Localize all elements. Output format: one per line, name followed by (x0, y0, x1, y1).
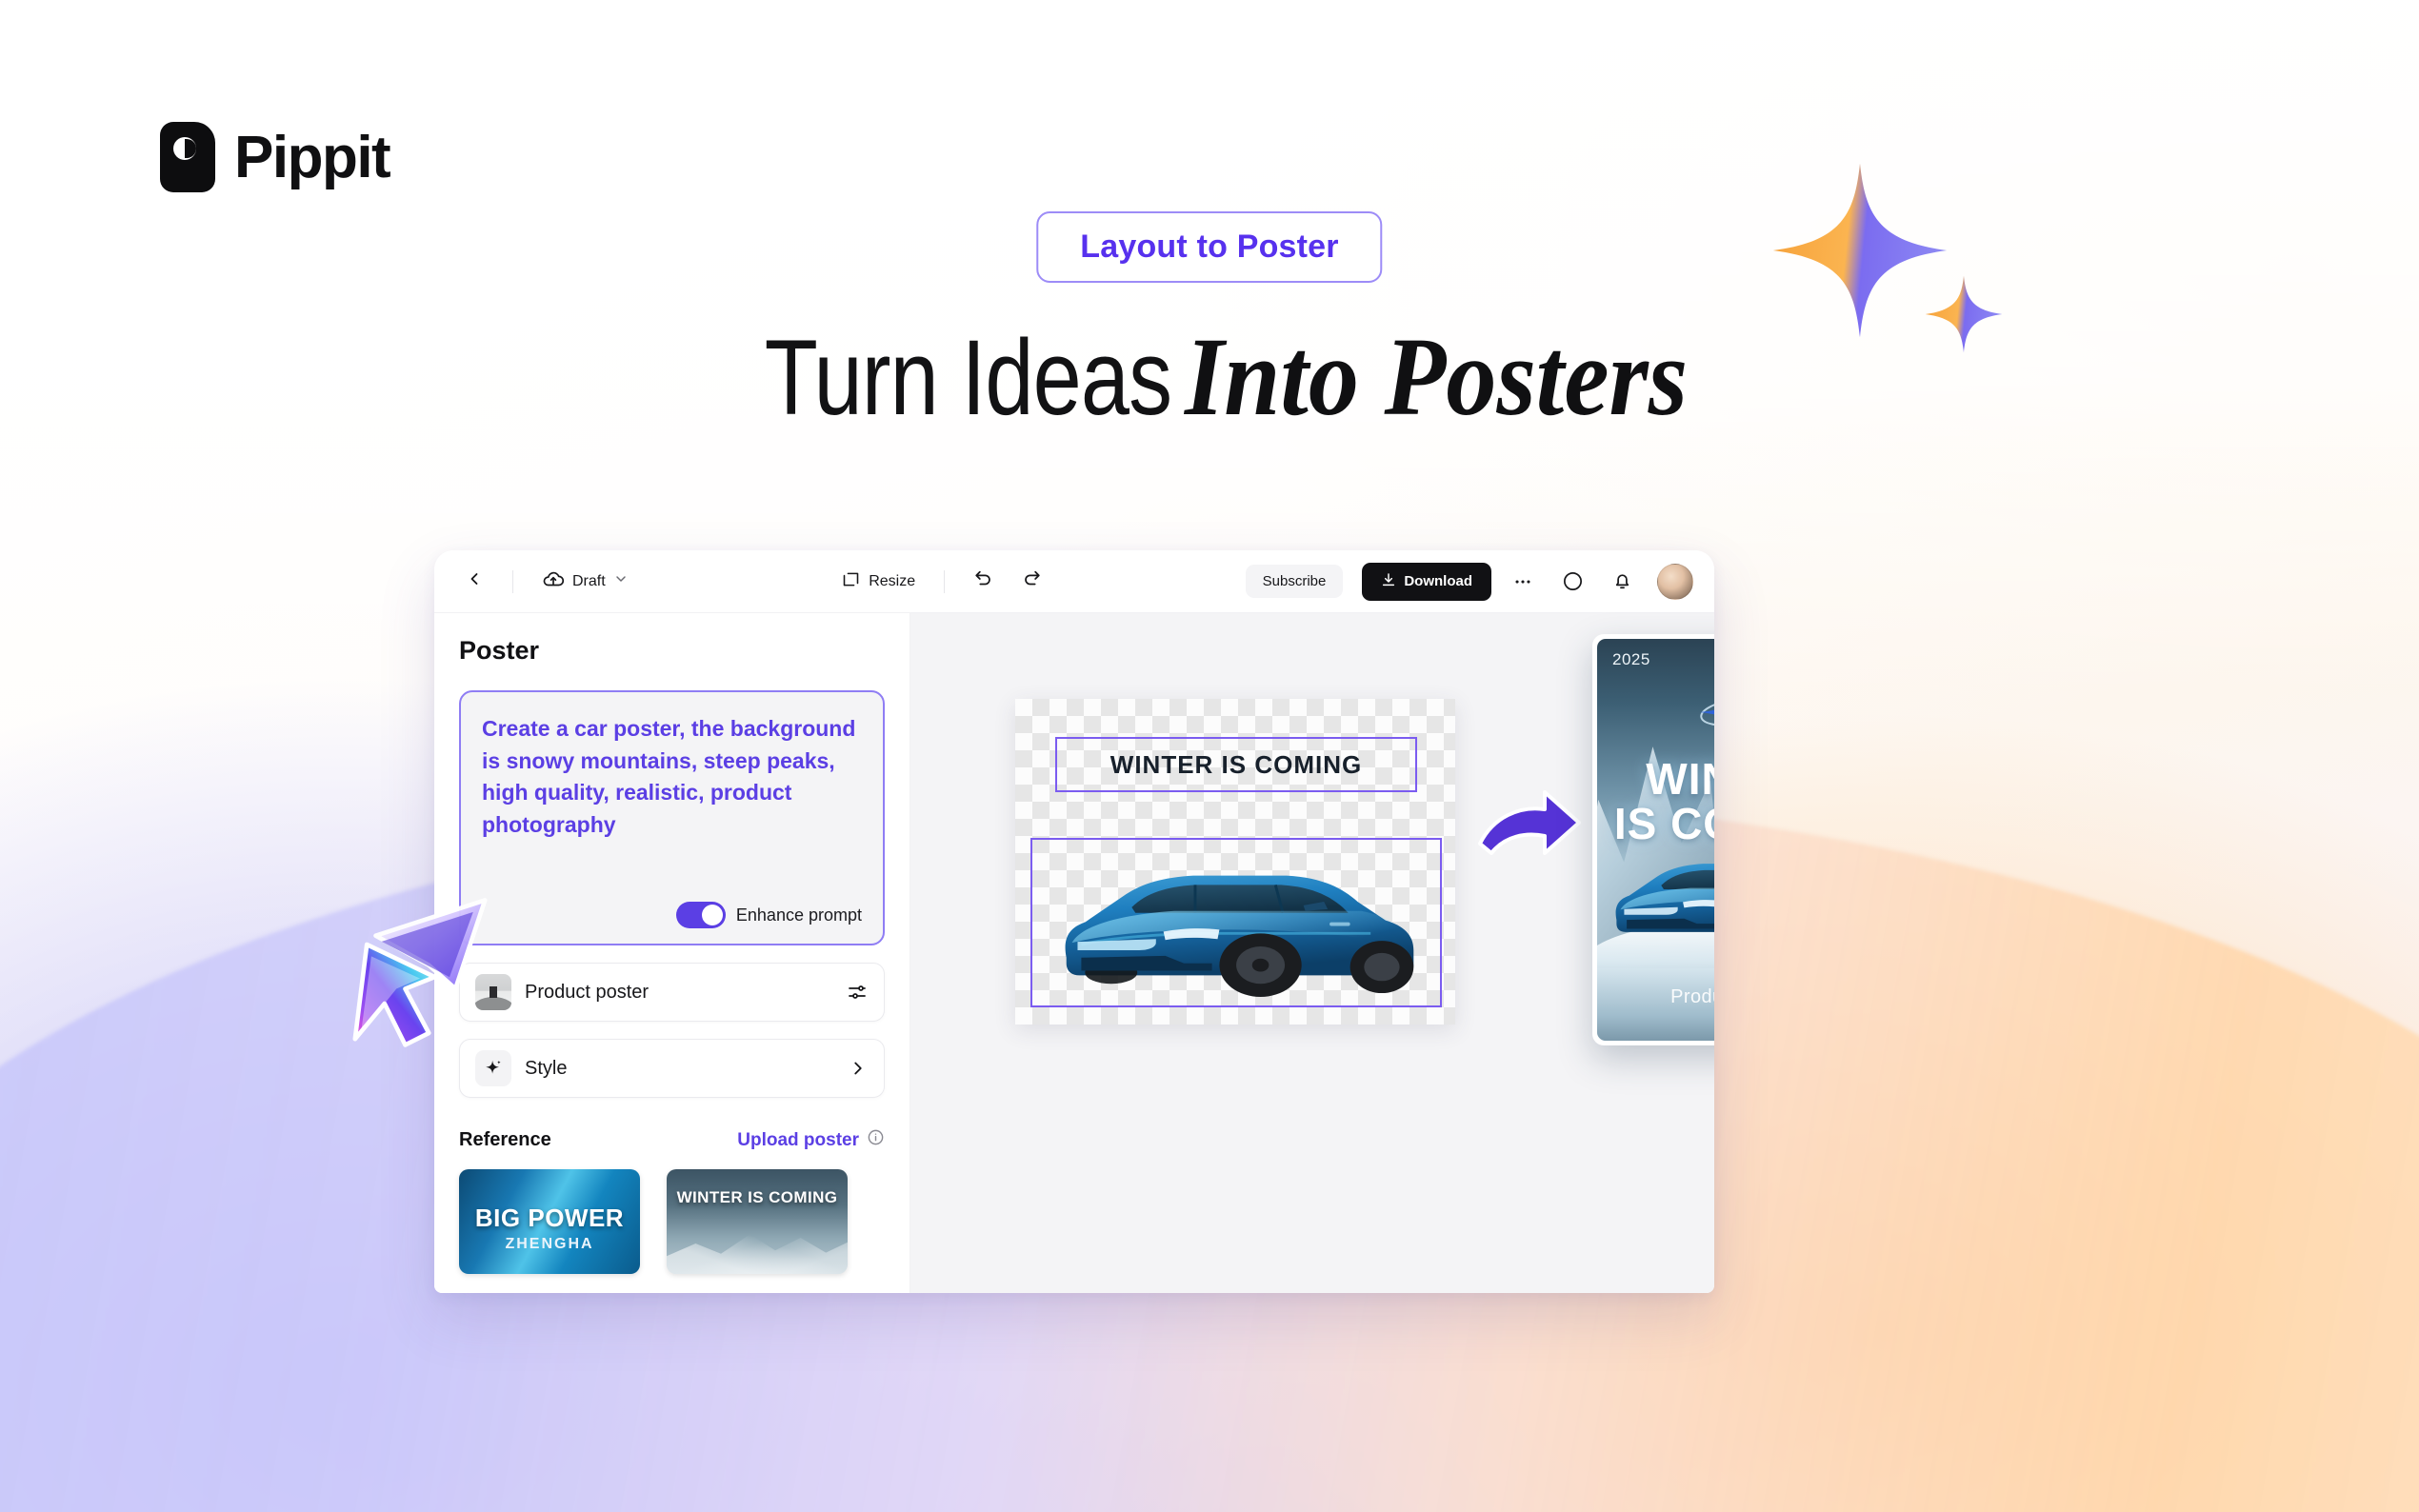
reference-card-title: BIG POWER (459, 1204, 640, 1233)
panel-title: Poster (459, 636, 885, 666)
enhance-prompt-toggle[interactable] (676, 902, 726, 928)
resize-button[interactable]: Resize (831, 563, 925, 601)
draft-status-button[interactable]: Draft (532, 563, 638, 601)
redo-icon (1021, 568, 1042, 594)
reference-grid: BIG POWER ZHENGHA WINTER IS COMING (459, 1169, 885, 1274)
output-poster[interactable]: 2025 WINTER IS COMING (1592, 634, 1714, 1045)
toolbar-divider-2 (944, 570, 945, 593)
redo-button[interactable] (1011, 563, 1051, 601)
poster-year: 2025 (1612, 650, 1650, 669)
poster-title-line1: WINTER (1597, 757, 1714, 802)
prompt-footer: Enhance prompt (482, 902, 862, 928)
back-button[interactable] (455, 563, 493, 601)
reference-card[interactable]: WINTER IS COMING (667, 1169, 848, 1274)
product-poster-row[interactable]: Product poster (459, 963, 885, 1022)
brand-name: Pippit (234, 124, 390, 191)
pippit-logo-icon (160, 122, 215, 192)
sparkle-star-small-icon (1924, 274, 2004, 354)
draft-label: Draft (572, 573, 606, 590)
poster-footer-text: Product poster (1597, 986, 1714, 1008)
download-icon (1381, 572, 1396, 591)
curved-arrow-icon (1478, 785, 1583, 867)
hero-badge[interactable]: Layout to Poster (1036, 211, 1382, 283)
3d-cursor-icon (331, 885, 509, 1067)
notification-bell-icon (1611, 570, 1633, 592)
blue-suv-layer (1053, 853, 1427, 998)
sliders-icon[interactable] (846, 981, 869, 1004)
resize-frame-icon (841, 569, 861, 594)
prompt-text: Create a car poster, the background is s… (482, 713, 862, 841)
reference-card-subtitle: ZHENGHA (459, 1236, 640, 1253)
canvas-area[interactable]: WINTER IS COMING (910, 613, 1714, 1293)
poster-canvas: 2025 WINTER IS COMING (1597, 639, 1714, 1041)
page-title: Turn IdeasInto Posters (675, 312, 1744, 442)
help-circle-icon (1562, 570, 1584, 592)
user-avatar[interactable] (1657, 564, 1693, 600)
enhance-prompt-label: Enhance prompt (736, 905, 862, 925)
info-circle-icon[interactable] (867, 1128, 885, 1152)
canvas-text-layer: WINTER IS COMING (1110, 750, 1362, 780)
style-label: Style (525, 1058, 834, 1080)
notifications-button[interactable] (1604, 564, 1640, 600)
headline-part-two: Into Posters (1185, 312, 1688, 442)
more-options-button[interactable] (1505, 564, 1541, 600)
product-poster-label: Product poster (525, 982, 832, 1004)
more-options-icon (1512, 571, 1533, 592)
chevron-left-icon (465, 569, 484, 593)
toolbar-divider (512, 570, 513, 593)
upload-poster-label: Upload poster (737, 1130, 859, 1151)
car-layer-selection[interactable] (1030, 838, 1442, 1007)
resize-label: Resize (869, 573, 915, 590)
upload-poster-link[interactable]: Upload poster (737, 1128, 885, 1152)
app-toolbar: Draft Resize (434, 550, 1714, 613)
help-button[interactable] (1554, 564, 1590, 600)
reference-header: Reference Upload poster (459, 1128, 885, 1152)
artboard[interactable]: WINTER IS COMING (1015, 699, 1455, 1025)
style-row[interactable]: Style (459, 1039, 885, 1098)
text-layer-selection[interactable]: WINTER IS COMING (1055, 737, 1417, 792)
poster-title-line2: IS COMING (1597, 802, 1714, 846)
reference-card-title: WINTER IS COMING (667, 1188, 848, 1207)
subscribe-button[interactable]: Subscribe (1246, 565, 1344, 598)
brand-logo[interactable]: Pippit (160, 122, 390, 192)
headline-part-one: Turn Ideas (765, 316, 1171, 439)
poster-title: WINTER IS COMING (1597, 757, 1714, 846)
cloud-upload-icon (542, 567, 565, 595)
reference-title: Reference (459, 1129, 551, 1151)
prompt-input-box[interactable]: Create a car poster, the background is s… (459, 690, 885, 945)
chevron-right-icon[interactable] (848, 1058, 869, 1079)
star-emblem-icon (1694, 683, 1714, 745)
download-label: Download (1404, 573, 1472, 589)
app-body: Poster Create a car poster, the backgrou… (434, 613, 1714, 1293)
chevron-down-icon (613, 571, 629, 591)
download-button[interactable]: Download (1362, 563, 1491, 601)
undo-button[interactable] (964, 563, 1004, 601)
app-window: Draft Resize (434, 550, 1714, 1293)
undo-icon (973, 568, 994, 594)
reference-card[interactable]: BIG POWER ZHENGHA (459, 1169, 640, 1274)
poster-car-image (1608, 846, 1714, 949)
